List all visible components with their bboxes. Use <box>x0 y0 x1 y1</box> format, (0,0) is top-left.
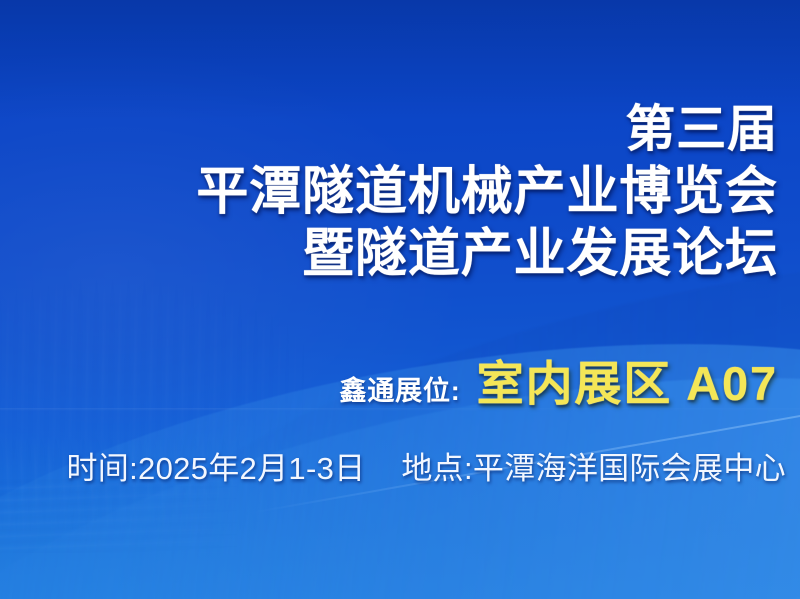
event-date: 时间:2025年2月1-3日 <box>67 451 366 486</box>
headline-block: 第三届 平潭隧道机械产业博览会 暨隧道产业发展论坛 <box>196 104 778 280</box>
booth-location: 室内展区A07 <box>477 345 778 414</box>
booth-info-row: 鑫通展位: 室内展区A07 <box>340 345 778 414</box>
headline-line-forum-title: 暨隧道产业发展论坛 <box>196 228 778 280</box>
headline-line-edition: 第三届 <box>196 104 778 154</box>
event-details-row: 时间:2025年2月1-3日 地点:平潭海洋国际会展中心 <box>0 443 786 488</box>
booth-code: A07 <box>686 357 778 410</box>
event-venue: 地点:平潭海洋国际会展中心 <box>401 451 786 486</box>
exhibition-banner: 第三届 平潭隧道机械产业博览会 暨隧道产业发展论坛 鑫通展位: 室内展区A07 … <box>0 0 800 599</box>
banner-content: 第三届 平潭隧道机械产业博览会 暨隧道产业发展论坛 鑫通展位: 室内展区A07 … <box>0 0 800 599</box>
headline-line-expo-title: 平潭隧道机械产业博览会 <box>196 166 778 218</box>
booth-area: 室内展区 <box>477 357 673 410</box>
booth-label: 鑫通展位: <box>340 369 461 408</box>
